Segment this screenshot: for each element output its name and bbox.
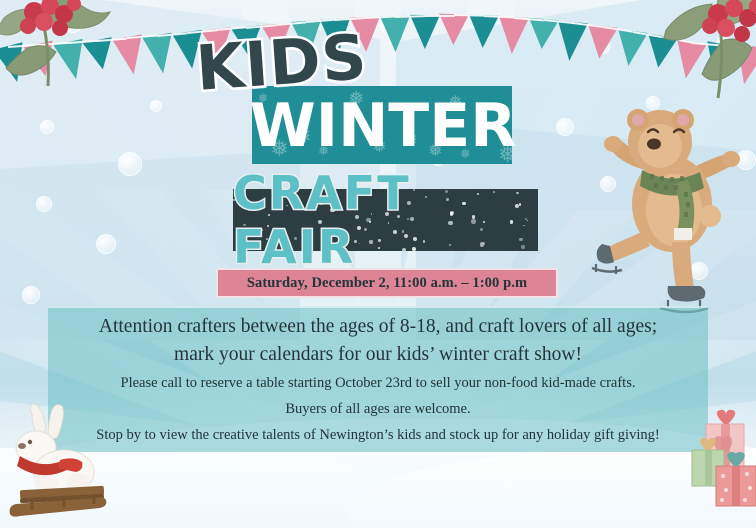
ice-skating-bear-icon <box>588 92 748 317</box>
bunting-flag <box>526 18 558 50</box>
gift-boxes-icon <box>690 408 756 518</box>
bokeh-dot <box>40 120 54 134</box>
bunting-flag <box>409 15 439 49</box>
bunting-string <box>425 14 455 16</box>
sub-line-1: Please call to reserve a table starting … <box>48 373 708 394</box>
bokeh-dot <box>150 100 162 112</box>
bunting-flag <box>555 21 589 63</box>
bunny-on-sled-icon <box>2 404 122 524</box>
lead-line-1: Attention crafters between the ages of 8… <box>48 314 708 340</box>
poster-canvas: KIDS ❅❅❅❅❅❅❅❅❅❅❅❅ WINTER CRAFT FAIR Satu… <box>0 0 756 528</box>
bokeh-dot <box>22 286 40 304</box>
holly-berries-icon <box>662 0 756 102</box>
sub-line-3: Stop by to view the creative talents of … <box>48 425 708 446</box>
bunting-flag <box>468 14 499 48</box>
bunting-flag <box>497 16 529 55</box>
lead-line-2: mark your calendars for our kids’ winter… <box>48 342 708 368</box>
bokeh-dot <box>118 152 142 176</box>
bunting-flag <box>380 15 410 51</box>
title-craft-fair: CRAFT FAIR <box>233 190 538 250</box>
date-text: Saturday, December 2, 11:00 a.m. – 1:00 … <box>247 275 527 292</box>
bunting-flag <box>439 14 470 46</box>
body-text-panel: Attention crafters between the ages of 8… <box>48 306 708 452</box>
bokeh-dot <box>96 234 116 254</box>
bokeh-dot <box>556 118 574 136</box>
date-banner: Saturday, December 2, 11:00 a.m. – 1:00 … <box>216 268 558 298</box>
holly-berries-icon <box>0 0 114 96</box>
bunting-string <box>395 15 425 18</box>
title-winter: WINTER <box>250 88 516 164</box>
sub-line-2: Buyers of all ages are welcome. <box>48 399 708 420</box>
bokeh-dot <box>36 196 52 212</box>
